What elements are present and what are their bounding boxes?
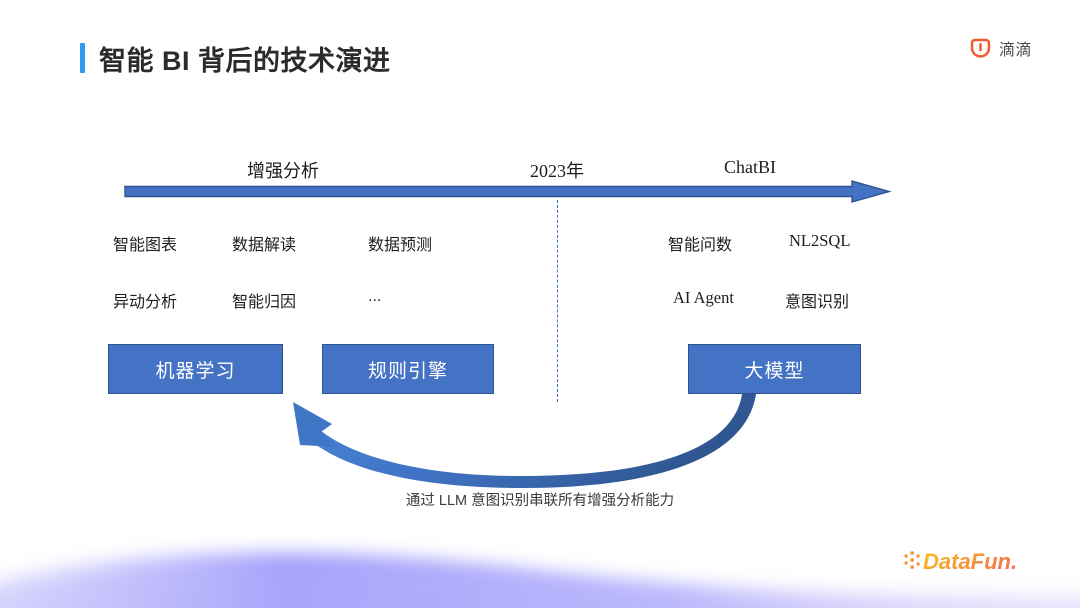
capability-anomaly-analysis: 异动分析 <box>113 288 177 312</box>
title-accent-bar <box>80 43 85 73</box>
tech-box-large-model[interactable]: 大模型 <box>688 344 861 394</box>
didi-brand-logo: 滴滴 <box>969 36 1032 60</box>
feedback-caption: 通过 LLM 意图识别串联所有增强分析能力 <box>0 489 1080 510</box>
era-label-1: 2023年 <box>457 157 657 183</box>
capability-smart-chart: 智能图表 <box>113 231 177 255</box>
capability-nl2sql: NL2SQL <box>789 231 850 251</box>
capability-data-prediction: 数据预测 <box>368 231 432 255</box>
tech-box-machine-learning[interactable]: 机器学习 <box>108 344 283 394</box>
era-label-1-text: 2023年 <box>530 161 584 181</box>
era-label-2: ChatBI <box>650 157 850 178</box>
didi-logo-icon <box>969 37 992 60</box>
capability-smart-attribution: 智能归因 <box>232 288 296 312</box>
era-label-2-text: ChatBI <box>724 157 776 177</box>
svg-text:DataFun.: DataFun. <box>923 549 1017 574</box>
timeline-divider <box>557 200 558 402</box>
timeline-arrow <box>124 180 894 217</box>
title-text: 智能 BI 背后的技术演进 <box>99 39 391 78</box>
era-label-0-text: 增强分析 <box>247 161 319 181</box>
capability-ellipsis: ... <box>368 288 381 306</box>
slide-canvas: 智能 BI 背后的技术演进 滴滴 增强分析 2023年 ChatBI 智能图表 … <box>0 0 1080 608</box>
datafun-logo-icon: DataFun. <box>902 545 1042 580</box>
page-title: 智能 BI 背后的技术演进 <box>80 38 391 78</box>
capability-smart-query: 智能问数 <box>668 231 732 255</box>
feedback-loop-arrow <box>280 390 760 505</box>
didi-brand-name: 滴滴 <box>999 36 1032 60</box>
capability-ai-agent: AI Agent <box>673 288 734 308</box>
capability-intent-recognition: 意图识别 <box>785 288 849 312</box>
datafun-logo: DataFun. DataFun. <box>902 545 1042 580</box>
tech-box-rule-engine[interactable]: 规则引擎 <box>322 344 494 394</box>
capability-data-interpretation: 数据解读 <box>232 231 296 255</box>
era-label-0: 增强分析 <box>183 157 383 183</box>
